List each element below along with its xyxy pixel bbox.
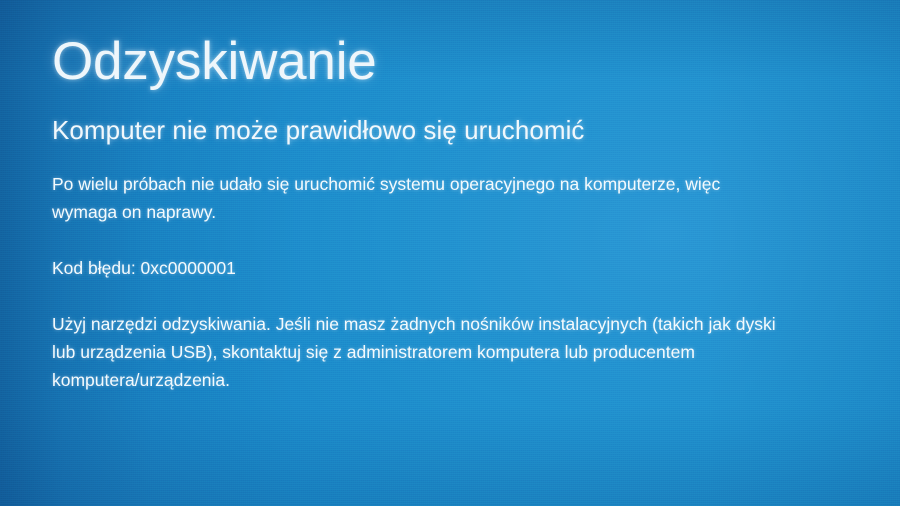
page-subtitle: Komputer nie może prawidłowo się uruchom… <box>52 114 852 147</box>
error-code-text: Kod błędu: 0xc0000001 <box>52 254 852 282</box>
intro-paragraph-line-2: wymaga on naprawy. <box>52 198 842 226</box>
intro-paragraph: Po wielu próbach nie udało się uruchomić… <box>52 170 842 226</box>
action-paragraph: Użyj narzędzi odzyskiwania. Jeśli nie ma… <box>52 310 842 394</box>
recovery-screen: Odzyskiwanie Komputer nie może prawidłow… <box>0 0 900 506</box>
action-paragraph-line-2: lub urządzenia USB), skontaktuj się z ad… <box>52 338 842 366</box>
action-paragraph-line-1: Użyj narzędzi odzyskiwania. Jeśli nie ma… <box>52 310 842 338</box>
recovery-content: Odzyskiwanie Komputer nie może prawidłow… <box>52 0 852 394</box>
action-paragraph-line-3: komputera/urządzenia. <box>52 366 842 394</box>
page-title: Odzyskiwanie <box>52 33 852 91</box>
intro-paragraph-line-1: Po wielu próbach nie udało się uruchomić… <box>52 170 842 198</box>
